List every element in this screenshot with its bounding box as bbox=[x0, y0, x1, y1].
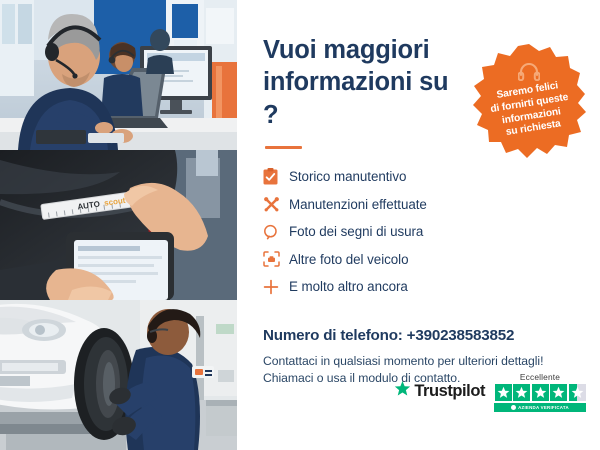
list-item: E molto altro ancora bbox=[263, 273, 582, 301]
list-item: Altre foto del veicolo bbox=[263, 246, 582, 274]
promo-banner: AUTO scout bbox=[0, 0, 600, 450]
starburst-badge: Saremo felici di fornirti queste informa… bbox=[470, 42, 588, 160]
clipboard-check-icon bbox=[263, 166, 287, 188]
headline-line-1: Vuoi maggiori bbox=[263, 34, 468, 66]
star-icon bbox=[513, 384, 530, 401]
verified-label: AZIENDA VERIFICATA bbox=[518, 405, 569, 410]
content-panel: Vuoi maggiori informazioni su ? Storico … bbox=[237, 0, 600, 450]
check-icon bbox=[511, 405, 516, 410]
feature-label: Altre foto del veicolo bbox=[287, 252, 408, 267]
photo-column: AUTO scout bbox=[0, 0, 237, 450]
feature-label: Storico manutentivo bbox=[287, 169, 406, 184]
star-icon bbox=[532, 384, 549, 401]
star-icon-half bbox=[569, 384, 586, 401]
rating-word: Eccellente bbox=[520, 372, 560, 382]
feature-label: E molto altro ancora bbox=[287, 279, 408, 294]
starburst-shape bbox=[470, 42, 588, 160]
title-underline-divider bbox=[265, 146, 302, 149]
phone-number-line[interactable]: Numero di telefono: +390238583852 bbox=[263, 327, 582, 344]
list-item: Foto dei segni di usura bbox=[263, 218, 582, 246]
trustpilot-logo: Trustpilot bbox=[394, 380, 485, 412]
plus-icon bbox=[263, 276, 287, 298]
list-item: Storico manutentivo bbox=[263, 163, 582, 191]
call-center-agents-photo bbox=[0, 0, 237, 150]
vehicle-inspection-photo: AUTO scout bbox=[0, 150, 237, 300]
headline-line-2: informazioni su ? bbox=[263, 66, 468, 131]
feature-label: Manutenzioni effettuate bbox=[287, 197, 427, 212]
feature-list: Storico manutentivo Manutenzi bbox=[263, 163, 582, 301]
mechanic-wheel-photo bbox=[0, 300, 237, 450]
trustpilot-wordmark: Trustpilot bbox=[414, 382, 485, 401]
trustpilot-rating[interactable]: Trustpilot Eccellente bbox=[394, 372, 586, 412]
list-item: Manutenzioni effettuate bbox=[263, 191, 582, 219]
star-icon bbox=[394, 380, 411, 402]
contact-line-1: Contattaci in qualsiasi momento per ulte… bbox=[263, 353, 582, 371]
page-title: Vuoi maggiori informazioni su ? bbox=[263, 34, 468, 131]
star-icon bbox=[550, 384, 567, 401]
feature-label: Foto dei segni di usura bbox=[287, 224, 423, 239]
photo-frame-icon bbox=[263, 248, 287, 270]
headset-icon bbox=[518, 62, 540, 81]
star-rating bbox=[495, 384, 586, 401]
crossed-tools-icon bbox=[263, 193, 287, 215]
star-icon bbox=[495, 384, 512, 401]
magnifier-icon bbox=[263, 221, 287, 243]
verified-business-badge: AZIENDA VERIFICATA bbox=[494, 403, 586, 412]
trustpilot-score-block: Eccellente bbox=[494, 372, 586, 412]
